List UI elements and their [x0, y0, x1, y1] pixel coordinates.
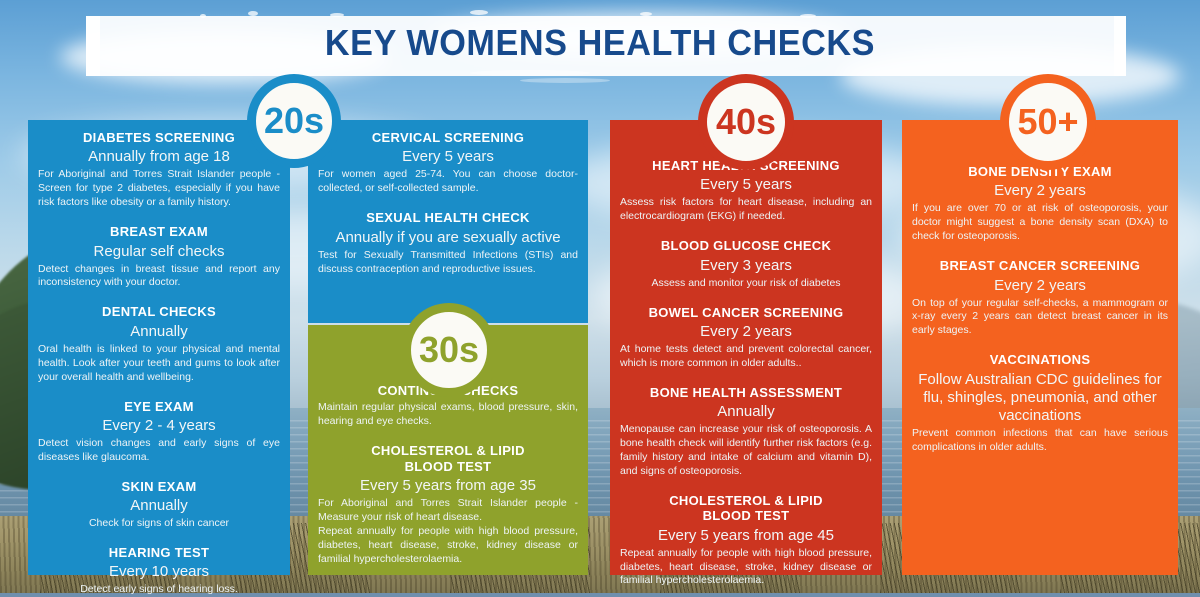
check-entry-title: VACCINATIONS — [912, 352, 1168, 367]
age-badge-30s: 30s — [402, 303, 496, 397]
check-entry: BONE HEALTH ASSESSMENTAnnuallyMenopause … — [620, 385, 872, 479]
check-entry-frequency: Every 5 years — [620, 176, 872, 194]
check-entry-description: If you are over 70 or at risk of osteopo… — [912, 202, 1168, 244]
check-entry: BLOOD GLUCOSE CHECKEvery 3 yearsAssess a… — [620, 238, 872, 290]
check-entry: BREAST EXAMRegular self checksDetect cha… — [38, 224, 280, 290]
check-entry-title: BONE HEALTH ASSESSMENT — [620, 385, 872, 400]
check-entry-title: EYE EXAM — [38, 399, 280, 414]
panel-twenties-left: DIABETES SCREENINGAnnually from age 18Fo… — [28, 120, 290, 575]
check-entry: BONE DENSITY EXAMEvery 2 yearsIf you are… — [912, 164, 1168, 244]
check-entry-title: DENTAL CHECKS — [38, 304, 280, 319]
age-badge-50plus: 50+ — [1000, 74, 1096, 170]
check-entry-title: BREAST EXAM — [38, 224, 280, 239]
brush-spatter — [640, 12, 652, 16]
check-entry-description: Test for Sexually Transmitted Infections… — [318, 249, 578, 277]
check-entry-title: SKIN EXAM — [38, 479, 280, 494]
check-entry-description: For women aged 25-74. You can choose doc… — [318, 168, 578, 196]
check-entry: BREAST CANCER SCREENINGEvery 2 yearsOn t… — [912, 258, 1168, 338]
panel-forties: HEART HEALTH SCREENINGEvery 5 yearsAsses… — [610, 120, 882, 575]
check-entry: CERVICAL SCREENINGEvery 5 yearsFor women… — [318, 130, 578, 196]
check-entry-title: SEXUAL HEALTH CHECK — [318, 210, 578, 225]
check-entry-frequency: Every 3 years — [620, 257, 872, 275]
brush-spatter — [470, 10, 488, 15]
panel-fifties-plus: BONE DENSITY EXAMEvery 2 yearsIf you are… — [902, 120, 1178, 575]
entry-list: DIABETES SCREENINGAnnually from age 18Fo… — [38, 120, 280, 597]
entry-list: BONE DENSITY EXAMEvery 2 yearsIf you are… — [912, 120, 1168, 455]
check-entry-frequency: Annually from age 18 — [38, 148, 280, 166]
check-entry-title: CHOLESTEROL & LIPIDBLOOD TEST — [620, 493, 872, 524]
check-entry-description: Assess and monitor your risk of diabetes — [620, 277, 872, 291]
check-entry-frequency: Every 10 years — [38, 563, 280, 581]
check-entry-title: CHOLESTEROL & LIPIDBLOOD TEST — [318, 443, 578, 474]
check-entry-frequency: Every 5 years from age 45 — [620, 527, 872, 545]
check-entry-title: BLOOD GLUCOSE CHECK — [620, 238, 872, 253]
page-title: KEY WOMENS HEALTH CHECKS — [30, 22, 1170, 64]
brush-spatter — [330, 13, 344, 17]
entry-list: CERVICAL SCREENINGEvery 5 yearsFor women… — [318, 120, 578, 276]
check-entry-frequency: Every 2 years — [912, 182, 1168, 200]
check-entry-description: Repeat annually for people with high blo… — [620, 547, 872, 589]
check-entry: SEXUAL HEALTH CHECKAnnually if you are s… — [318, 210, 578, 276]
entry-list: HEART HEALTH SCREENINGEvery 5 yearsAsses… — [620, 120, 872, 588]
check-entry-title: BOWEL CANCER SCREENING — [620, 305, 872, 320]
check-entry-frequency: Annually — [620, 403, 872, 421]
brush-spatter — [800, 14, 816, 18]
age-badge-20s: 20s — [247, 74, 341, 168]
check-entry-description: At home tests detect and prevent colorec… — [620, 343, 872, 371]
check-entry-frequency: Annually if you are sexually active — [318, 229, 578, 247]
check-entry-description: Detect vision changes and early signs of… — [38, 437, 280, 465]
check-entry-description: Prevent common infections that can have … — [912, 427, 1168, 455]
check-entry: SKIN EXAMAnnuallyCheck for signs of skin… — [38, 479, 280, 531]
check-entry: DIABETES SCREENINGAnnually from age 18Fo… — [38, 130, 280, 210]
age-badge-40s: 40s — [698, 74, 794, 170]
check-entry: CHOLESTEROL & LIPIDBLOOD TESTEvery 5 yea… — [620, 493, 872, 589]
check-entry-description: Detect early signs of hearing loss. — [38, 583, 280, 597]
check-entry-frequency: Every 5 years — [318, 148, 578, 166]
check-entry-description: Maintain regular physical exams, blood p… — [318, 401, 578, 429]
check-entry-title: HEARING TEST — [38, 545, 280, 560]
brush-spatter — [470, 70, 590, 76]
check-entry-description: For Aboriginal and Torres Strait Islande… — [318, 497, 578, 525]
check-entry-frequency: Annually — [38, 497, 280, 515]
brush-spatter — [200, 14, 206, 18]
check-entry-description: Menopause can increase your risk of oste… — [620, 423, 872, 479]
check-entry-frequency: Every 5 years from age 35 — [318, 477, 578, 495]
brush-spatter — [248, 11, 258, 16]
check-entry-frequency: Every 2 years — [620, 323, 872, 341]
check-entry-description: On top of your regular self-checks, a ma… — [912, 297, 1168, 339]
check-entry-title: BREAST CANCER SCREENING — [912, 258, 1168, 273]
check-entry-description: For Aboriginal and Torres Strait Islande… — [38, 168, 280, 210]
check-entry-frequency: Follow Australian CDC guidelines for flu… — [912, 371, 1168, 425]
check-entry-description: Check for signs of skin cancer — [38, 517, 280, 531]
check-entry-frequency: Every 2 - 4 years — [38, 417, 280, 435]
check-entry: CHOLESTEROL & LIPIDBLOOD TESTEvery 5 yea… — [318, 443, 578, 566]
check-entry: EYE EXAMEvery 2 - 4 yearsDetect vision c… — [38, 399, 280, 465]
check-entry-description: Assess risk factors for heart disease, i… — [620, 196, 872, 224]
check-entry-title: CERVICAL SCREENING — [318, 130, 578, 145]
check-entry-frequency: Regular self checks — [38, 243, 280, 261]
check-entry: HEARING TESTEvery 10 yearsDetect early s… — [38, 545, 280, 597]
check-entry-title: DIABETES SCREENING — [38, 130, 280, 145]
check-entry: BOWEL CANCER SCREENINGEvery 2 yearsAt ho… — [620, 305, 872, 371]
check-entry-frequency: Every 2 years — [912, 277, 1168, 295]
check-entry-description: Oral health is linked to your physical a… — [38, 343, 280, 385]
check-entry: DENTAL CHECKSAnnuallyOral health is link… — [38, 304, 280, 384]
check-entry: VACCINATIONSFollow Australian CDC guidel… — [912, 352, 1168, 454]
check-entry-frequency: Annually — [38, 323, 280, 341]
brush-spatter — [520, 78, 610, 83]
check-entry-description: Repeat annually for people with high blo… — [318, 525, 578, 567]
check-entry-description: Detect changes in breast tissue and repo… — [38, 263, 280, 291]
panel-twenties-right: CERVICAL SCREENINGEvery 5 yearsFor women… — [308, 120, 588, 323]
